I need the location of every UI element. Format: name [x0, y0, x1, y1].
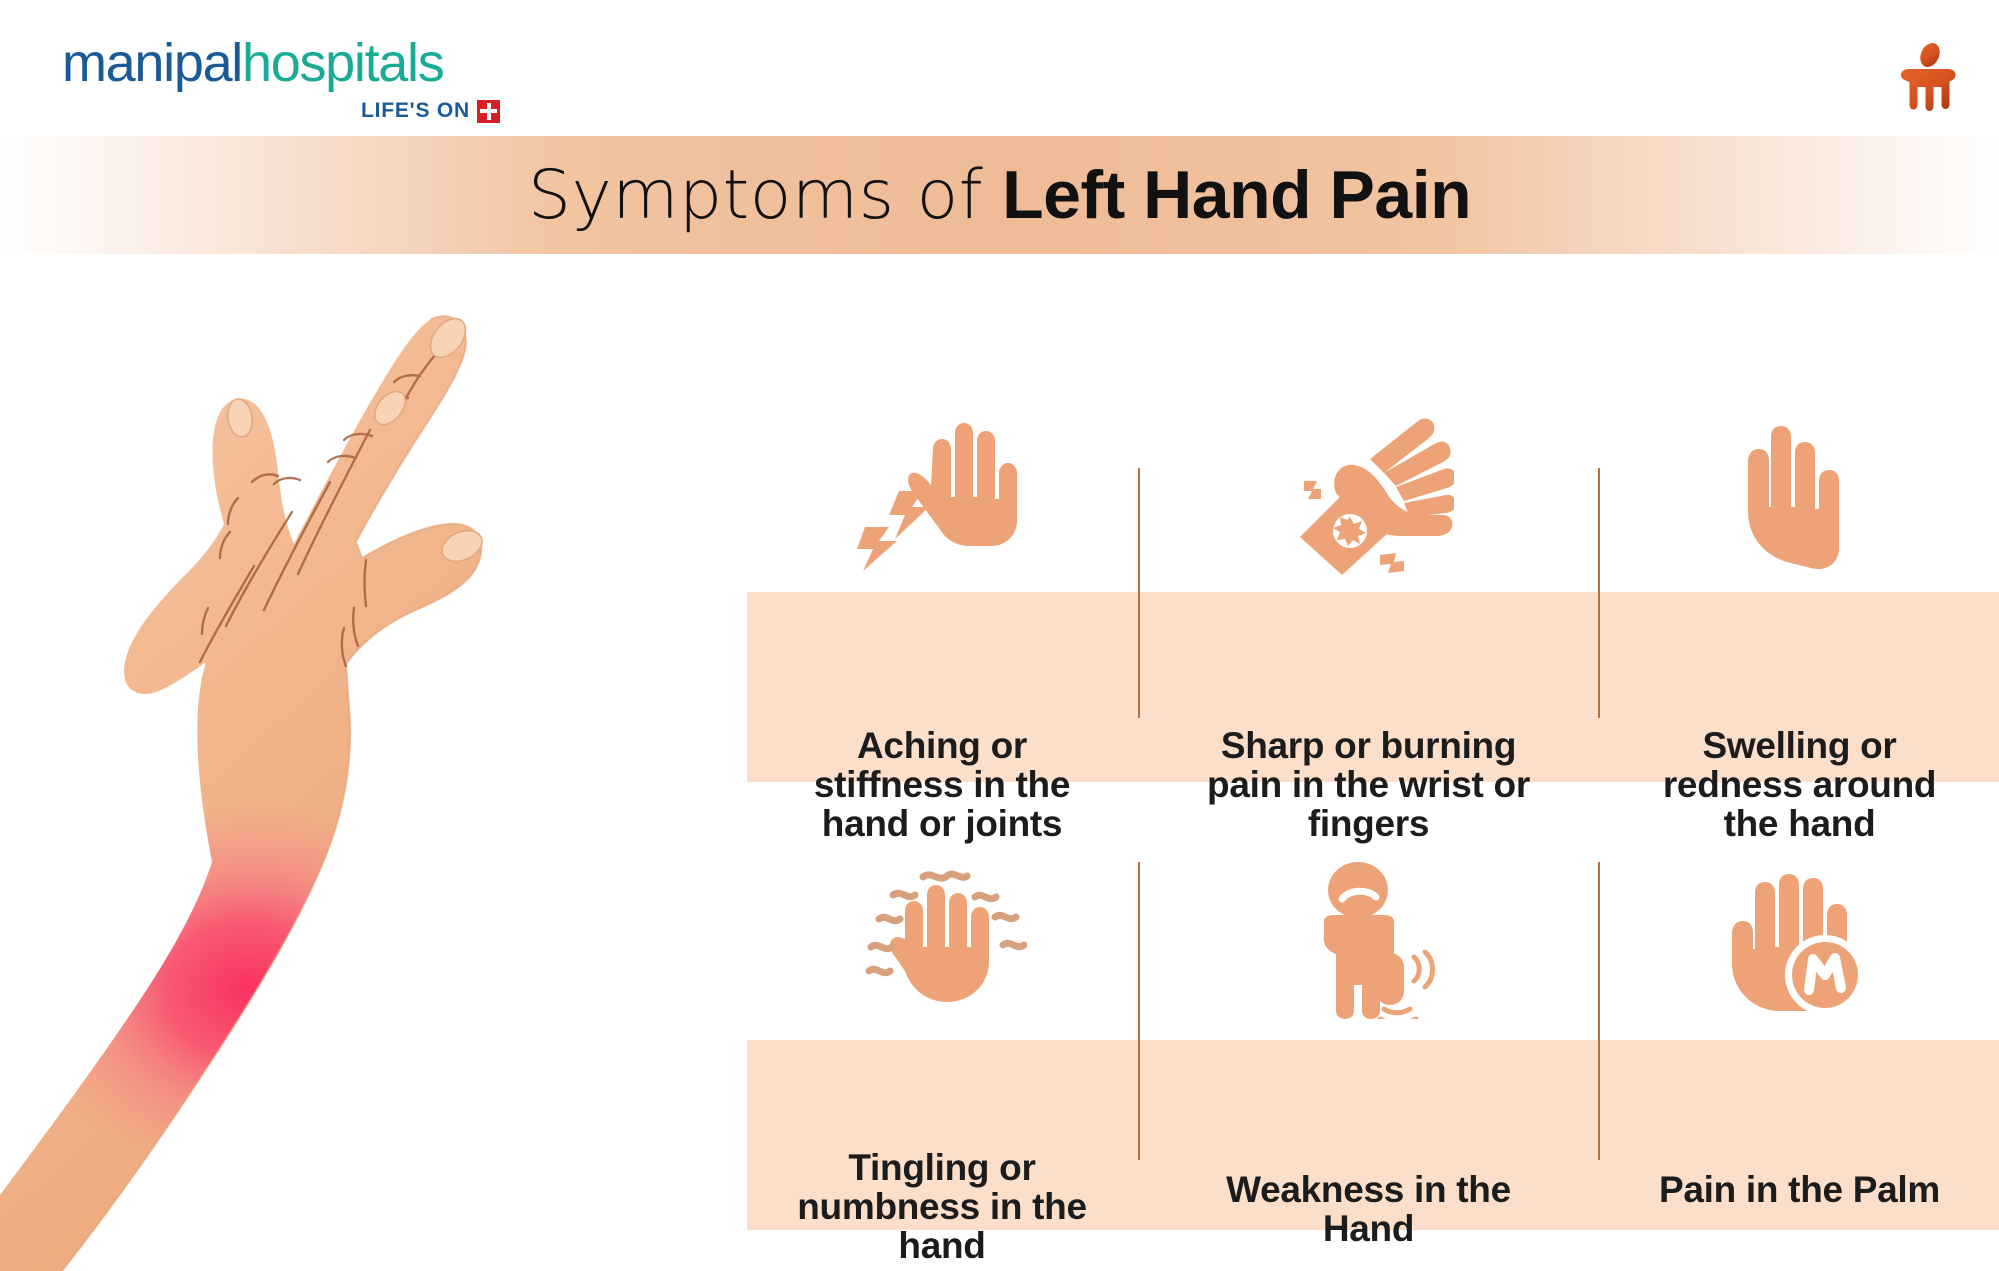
palm-pain-badge-icon	[1715, 844, 1885, 1019]
symptom-card-palm-pain[interactable]: Pain in the Palm	[1600, 844, 1999, 1210]
logo-word-hospitals: hospitals	[242, 33, 443, 93]
title-banner: Symptoms of Left Hand Pain	[0, 136, 1999, 254]
medical-cross-icon	[477, 100, 500, 123]
logo-word-manipal: manipal	[62, 33, 242, 93]
symptom-card-weakness[interactable]: Weakness in the Hand	[1141, 844, 1596, 1249]
swollen-hand-icon	[1715, 400, 1885, 575]
logo-tagline-row: LIFE'S ON	[62, 99, 502, 123]
symptom-card-tingling-numbness[interactable]: Tingling or numbness in the hand	[747, 844, 1137, 1266]
symptom-card-sharp-burning-pain[interactable]: Sharp or burning pain in the wrist or fi…	[1141, 400, 1596, 844]
column-divider	[1138, 468, 1140, 718]
symptom-label: Pain in the Palm	[1655, 1171, 1945, 1210]
column-divider	[1138, 862, 1140, 1160]
symptom-label: Swelling or redness around the hand	[1640, 727, 1960, 844]
symptom-label: Sharp or burning pain in the wrist or fi…	[1189, 727, 1549, 844]
symptom-label: Tingling or numbness in the hand	[787, 1149, 1097, 1266]
symptom-card-swelling-redness[interactable]: Swelling or redness around the hand	[1600, 400, 1999, 844]
symptom-card-aching-stiffness[interactable]: Aching or stiffness in the hand or joint…	[747, 400, 1137, 844]
person-holding-weak-arm-icon	[1284, 844, 1454, 1019]
page-title-bold: Left Hand Pain	[1002, 157, 1471, 233]
symptom-label: Weakness in the Hand	[1214, 1171, 1524, 1249]
wrist-sharp-pain-icon	[1284, 400, 1454, 575]
left-hand-illustration	[0, 290, 660, 1271]
manipal-hospitals-logo[interactable]: manipalhospitals LIFE'S ON	[62, 36, 502, 123]
tingling-hand-icon	[857, 844, 1027, 1019]
page-title-light: Symptoms of	[528, 156, 983, 235]
manipal-brand-mark-icon	[1895, 42, 1957, 114]
symptom-label: Aching or stiffness in the hand or joint…	[797, 727, 1087, 844]
logo-tagline: LIFE'S ON	[361, 99, 470, 123]
hand-with-lightning-bolts-icon	[857, 400, 1027, 575]
logo-wordmark: manipalhospitals	[62, 36, 502, 90]
infographic-page: manipalhospitals LIFE'S ON	[0, 0, 1999, 1271]
page-title: Symptoms of Left Hand Pain	[528, 161, 1471, 230]
page-header: manipalhospitals LIFE'S ON	[0, 0, 1999, 152]
